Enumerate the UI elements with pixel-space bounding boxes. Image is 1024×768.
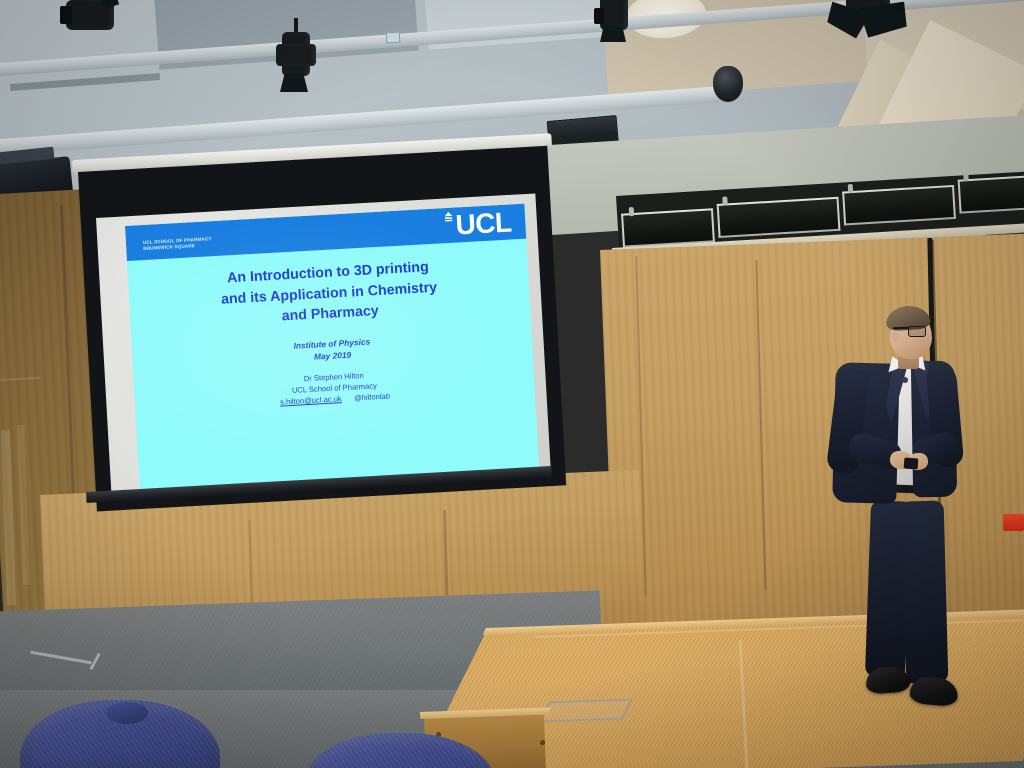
presentation-slide: UCL SCHOOL OF PHARMACY BRUNSWICK SQUARE … — [125, 204, 539, 494]
presenter-leg-right — [902, 500, 949, 683]
ucl-portico-icon — [444, 211, 454, 238]
stage-floor-socket — [539, 699, 633, 723]
presenter-lapel-microphone — [902, 377, 908, 383]
presenter-shoe-right — [909, 675, 959, 707]
ucl-logo: UCL — [444, 207, 512, 238]
stage-fixing-screw — [540, 740, 545, 745]
lecture-theatre-photo: UCL SCHOOL OF PHARMACY BRUNSWICK SQUARE … — [0, 0, 1024, 768]
presenter-standing — [812, 305, 992, 735]
slide-email[interactable]: s.hilton@ucl.ac.uk — [280, 394, 342, 406]
presenter-ear — [892, 332, 899, 342]
presentation-clicker[interactable] — [904, 458, 919, 470]
slide-social-handle[interactable]: @hiltonlab — [354, 391, 390, 402]
presenter-glasses-lens — [908, 326, 926, 337]
ucl-logo-text: UCL — [455, 211, 512, 238]
